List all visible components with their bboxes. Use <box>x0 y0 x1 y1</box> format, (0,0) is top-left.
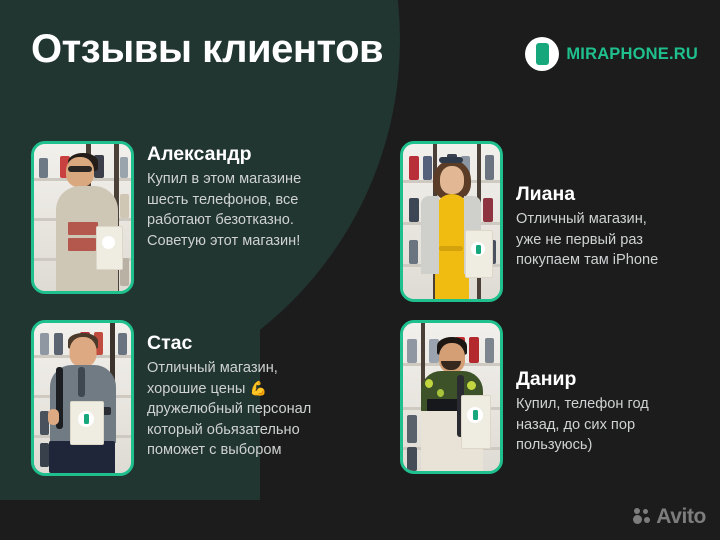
brand-logo: MIRAPHONE.RU <box>525 37 698 71</box>
promo-banner: Отзывы клиентов MIRAPHONE.RU <box>0 0 720 540</box>
customer-review-text: Купил, телефон год назад, до сих пор пол… <box>516 394 649 456</box>
testimonial-card: Стас Отличный магазин, хорошие цены 💪 др… <box>31 320 311 476</box>
customer-name: Александр <box>147 143 301 165</box>
customer-review-text: Отличный магазин, хорошие цены 💪 дружелю… <box>147 358 311 461</box>
avito-wordmark: Avito <box>656 506 706 527</box>
phone-icon <box>525 37 559 71</box>
customer-photo <box>400 320 503 474</box>
brand-name: MIRAPHONE.RU <box>566 45 698 64</box>
review-text-part-2: дружелюбный персонал который обьязательн… <box>147 401 311 458</box>
avito-dots-icon <box>633 507 652 526</box>
avito-watermark: Avito <box>633 506 706 527</box>
customer-photo <box>31 141 134 294</box>
customer-name: Стас <box>147 332 311 354</box>
page-title: Отзывы клиентов <box>31 27 383 71</box>
testimonial-card: Лиана Отличный магазин, уже не первый ра… <box>400 141 658 302</box>
customer-photo <box>31 320 134 476</box>
testimonial-card: Данир Купил, телефон год назад, до сих п… <box>400 320 649 474</box>
flexed-biceps-emoji: 💪 <box>249 381 266 397</box>
customer-name: Данир <box>516 368 649 390</box>
customer-photo <box>400 141 503 302</box>
testimonial-card: Александр Купил в этом магазине шесть те… <box>31 141 301 294</box>
customer-review-text: Купил в этом магазине шесть телефонов, в… <box>147 169 301 251</box>
customer-review-text: Отличный магазин, уже не первый раз поку… <box>516 209 658 271</box>
customer-name: Лиана <box>516 183 658 205</box>
